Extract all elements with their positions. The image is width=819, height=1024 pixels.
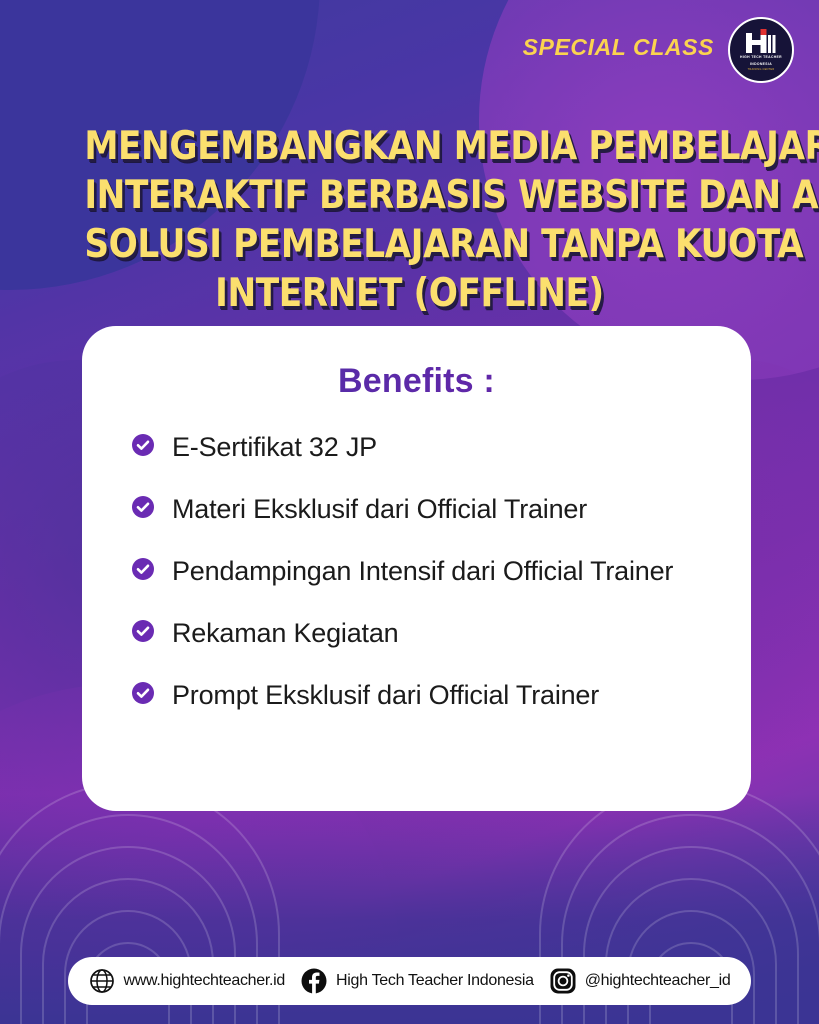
- benefit-label: Prompt Eksklusif dari Official Trainer: [172, 675, 599, 715]
- footer-facebook-label: High Tech Teacher Indonesia: [336, 972, 534, 990]
- list-item: Rekaman Kegiatan: [132, 613, 717, 653]
- benefit-label: Materi Eksklusif dari Official Trainer: [172, 489, 587, 529]
- facebook-icon: [301, 968, 327, 994]
- footer-instagram-label: @hightechteacher_id: [585, 972, 731, 990]
- instagram-icon: [550, 968, 576, 994]
- list-item: Materi Eksklusif dari Official Trainer: [132, 489, 717, 529]
- logo-monogram-icon: [743, 29, 779, 53]
- footer-instagram[interactable]: @hightechteacher_id: [550, 968, 731, 994]
- special-class-badge: SPECIAL CLASS: [523, 34, 714, 61]
- benefits-list: E-Sertifikat 32 JP Materi Eksklusif dari…: [116, 427, 717, 715]
- title-line-2: INTERAKTIF BERBASIS WEBSITE DAN AI UNTUK: [84, 171, 734, 220]
- globe-icon: [89, 968, 115, 994]
- poster-canvas: SPECIAL CLASS HIGH TECH TEACHER INDONESI…: [0, 0, 819, 1024]
- footer-contact-bar: www.hightechteacher.id High Tech Teacher…: [68, 957, 751, 1005]
- footer-website-label: www.hightechteacher.id: [124, 972, 286, 990]
- check-circle-icon: [132, 620, 154, 642]
- benefit-label: Pendampingan Intensif dari Official Trai…: [172, 551, 673, 591]
- list-item: Prompt Eksklusif dari Official Trainer: [132, 675, 717, 715]
- title-line-1: MENGEMBANGKAN MEDIA PEMBELAJARAN: [84, 122, 734, 171]
- logo-name-line1: HIGH TECH TEACHER: [740, 55, 782, 60]
- footer-website[interactable]: www.hightechteacher.id: [89, 968, 286, 994]
- poster-title: MENGEMBANGKAN MEDIA PEMBELAJARAN INTERAK…: [84, 122, 734, 318]
- check-circle-icon: [132, 682, 154, 704]
- list-item: E-Sertifikat 32 JP: [132, 427, 717, 467]
- footer-facebook[interactable]: High Tech Teacher Indonesia: [301, 968, 534, 994]
- logo-tagline: TRAINING CENTER: [748, 68, 775, 71]
- benefits-heading: Benefits :: [116, 362, 717, 401]
- list-item: Pendampingan Intensif dari Official Trai…: [132, 551, 717, 591]
- title-line-4: INTERNET (OFFLINE): [84, 269, 734, 318]
- benefits-card: Benefits : E-Sertifikat 32 JP Materi Eks…: [82, 326, 751, 811]
- logo-name-line2: INDONESIA: [750, 62, 772, 67]
- benefit-label: E-Sertifikat 32 JP: [172, 427, 377, 467]
- check-circle-icon: [132, 434, 154, 456]
- check-circle-icon: [132, 496, 154, 518]
- benefit-label: Rekaman Kegiatan: [172, 613, 398, 653]
- title-line-3: SOLUSI PEMBELAJARAN TANPA KUOTA: [84, 220, 734, 269]
- brand-logo: HIGH TECH TEACHER INDONESIA TRAINING CEN…: [728, 17, 794, 83]
- check-circle-icon: [132, 558, 154, 580]
